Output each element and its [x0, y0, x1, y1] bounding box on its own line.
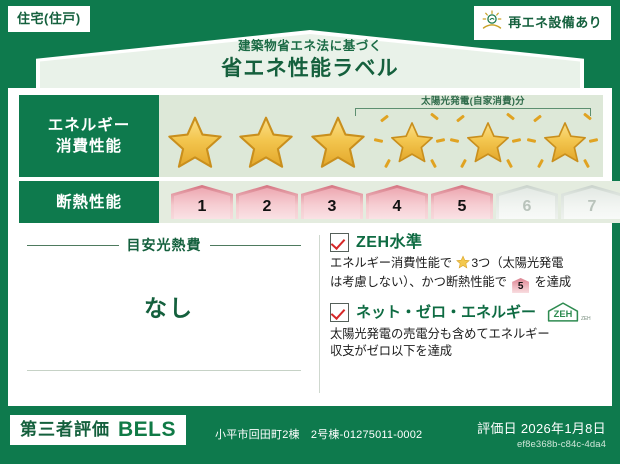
zeh-logo: ZEH ZEH [546, 301, 590, 323]
solar-ray [506, 159, 513, 168]
solar-bracket [355, 108, 591, 116]
net-zero-description: 太陽光発電の売電分も含めてエネルギー 収支がゼロ以下を達成 [330, 326, 603, 360]
lower-section: 目安光熱費 なし ZEH水準 エネルギー消費性能で [19, 229, 603, 399]
evaluation-date-label: 評価日 [477, 421, 517, 436]
evaluation-date-value: 2026年1月8日 [521, 421, 606, 436]
insulation-level-value: 4 [393, 198, 402, 216]
zeh-logo-subtext: ZEH [581, 316, 590, 323]
insulation-levels-area: 1234567 [159, 181, 620, 223]
solar-annotation: 太陽光発電(自家消費)分 [355, 96, 591, 116]
zeh-desc-part1: エネルギー消費性能で [330, 256, 452, 270]
label-body-card: エネルギー 消費性能 太陽光発電(自家消費)分 断熱性能 1234567 [8, 88, 612, 406]
energy-performance-row: エネルギー 消費性能 太陽光発電(自家消費)分 [19, 95, 603, 177]
heading-rule-right [210, 245, 302, 246]
zeh-desc-part2: 3つ（太陽光発電 [471, 256, 563, 270]
insulation-level-list: 1234567 [159, 185, 620, 219]
insulation-performance-label: 断熱性能 [19, 181, 159, 223]
insulation-performance-row: 断熱性能 1234567 [19, 181, 603, 223]
insulation-level-value: 2 [263, 198, 272, 216]
insulation-level-value: 5 [458, 198, 467, 216]
evaluation-info: 評価日 2026年1月8日 ef8e368b-c84c-4da4 [477, 420, 606, 451]
star-icon-solar [527, 109, 603, 175]
bels-certification-mark: 第三者評価 BELS [10, 415, 186, 445]
renewable-equipment-badge: 再エネ設備あり [474, 6, 611, 40]
energy-label-line1: エネルギー [48, 115, 131, 136]
net-zero-title: ネット・ゼロ・エネルギー [356, 303, 536, 322]
utility-cost-bottom-rule [27, 370, 301, 371]
sun-icon [481, 10, 503, 35]
criteria-panel: ZEH水準 エネルギー消費性能で 3つ（太陽光発電 は考慮しない）、かつ断熱性能… [330, 229, 603, 399]
page-title: 省エネ性能ラベル [0, 55, 620, 82]
solar-ray [450, 138, 459, 143]
solar-ray [512, 138, 521, 143]
insulation-level-badge-1: 1 [171, 185, 233, 219]
insulation-label-line1: 断熱性能 [56, 192, 122, 213]
utility-cost-label: 目安光熱費 [127, 235, 202, 255]
solar-ray [435, 138, 444, 143]
heading-rule-left [27, 245, 119, 246]
renewable-badge-label: 再エネ設備あり [508, 15, 602, 31]
net-zero-checkbox[interactable] [330, 303, 349, 322]
performance-section: エネルギー 消費性能 太陽光発電(自家消費)分 断熱性能 1234567 [19, 95, 603, 227]
solar-ray [373, 138, 382, 143]
label-footer: 第三者評価 BELS 小平市回田町2棟 2号棟-01275011-0002 評価… [0, 406, 620, 464]
property-address: 小平市回田町2棟 2号棟-01275011-0002 [215, 428, 422, 442]
bels-logo-text: BELS [118, 419, 176, 440]
energy-label-line2: 消費性能 [56, 136, 122, 157]
insulation-level-badge-5: 5 [431, 185, 493, 219]
level-badge-5-icon: 5 [512, 278, 529, 293]
solar-ray [588, 138, 597, 143]
utility-cost-panel: 目安光熱費 なし [19, 229, 319, 399]
energy-stars-area: 太陽光発電(自家消費)分 [159, 95, 603, 177]
insulation-level-value: 7 [588, 198, 597, 216]
zeh-desc-part4: を達成 [534, 275, 571, 289]
zeh-level-description: エネルギー消費性能で 3つ（太陽光発電 は考慮しない）、かつ断熱性能で 5 を達… [330, 255, 603, 293]
utility-cost-value: なし [19, 289, 319, 323]
insulation-level-badge-6: 6 [496, 185, 558, 219]
star-icon [231, 109, 303, 175]
star-icon [456, 255, 470, 274]
energy-performance-label: 建築物省エネ法に基づく 省エネ性能ラベル 住宅(住戸) 再エネ設備あり [0, 0, 620, 464]
net-zero-desc-line2: 収支がゼロ以下を達成 [330, 344, 452, 358]
insulation-level-badge-4: 4 [366, 185, 428, 219]
star-icon-solar [374, 109, 450, 175]
vertical-divider [319, 235, 320, 393]
title-block: 建築物省エネ法に基づく 省エネ性能ラベル [0, 38, 620, 82]
solar-ray [526, 138, 535, 143]
insulation-level-badge-3: 3 [301, 185, 363, 219]
insulation-level-value: 6 [523, 198, 532, 216]
utility-cost-heading: 目安光熱費 [19, 229, 319, 255]
insulation-level-badge-2: 2 [236, 185, 298, 219]
house-type-tag: 住宅(住戸) [8, 6, 90, 32]
insulation-level-badge-7: 7 [561, 185, 620, 219]
criterion-net-zero-header: ネット・ゼロ・エネルギー ZEH ZEH [330, 301, 603, 323]
label-body-inner: エネルギー 消費性能 太陽光発電(自家消費)分 断熱性能 1234567 [13, 93, 609, 403]
criterion-net-zero-energy: ネット・ゼロ・エネルギー ZEH ZEH 太陽光発電の売電分も含めてエネルギー … [330, 301, 603, 360]
criterion-zeh-level: ZEH水準 エネルギー消費性能で 3つ（太陽光発電 は考慮しない）、かつ断熱性能… [330, 233, 603, 293]
zeh-level-title: ZEH水準 [356, 233, 423, 252]
criterion-zeh-header: ZEH水準 [330, 233, 603, 252]
star-icon-solar [450, 109, 526, 175]
evaluation-date-line: 評価日 2026年1月8日 [477, 420, 606, 437]
star-rating [159, 109, 603, 175]
svg-text:ZEH: ZEH [554, 309, 573, 319]
star-icon [302, 109, 374, 175]
title-subtitle: 建築物省エネ法に基づく [0, 38, 620, 54]
net-zero-desc-line1: 太陽光発電の売電分も含めてエネルギー [330, 327, 550, 341]
certificate-uid: ef8e368b-c84c-4da4 [477, 438, 606, 451]
insulation-level-value: 3 [328, 198, 337, 216]
star-icon [159, 109, 231, 175]
third-party-eval-label: 第三者評価 [20, 419, 110, 440]
energy-performance-label: エネルギー 消費性能 [19, 95, 159, 177]
zeh-desc-part3: は考慮しない）、かつ断熱性能で [330, 275, 507, 289]
solar-annotation-label: 太陽光発電(自家消費)分 [355, 96, 591, 107]
zeh-level-checkbox[interactable] [330, 233, 349, 252]
insulation-level-value: 1 [198, 198, 207, 216]
